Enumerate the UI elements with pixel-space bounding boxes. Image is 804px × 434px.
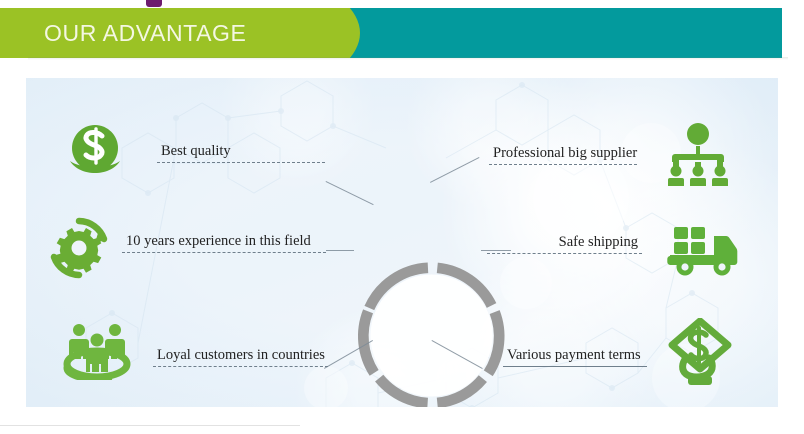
advantage-label-safe-shipping: Safe shipping	[487, 234, 642, 254]
label-rule	[503, 366, 647, 367]
delivery-truck-icon	[666, 222, 744, 280]
label-rule	[487, 253, 642, 254]
advantage-label-big-supplier: Professional big supplier	[489, 145, 641, 165]
label-rule	[122, 252, 326, 253]
quality-seal-icon	[66, 121, 124, 183]
gear-cycle-icon	[48, 217, 110, 279]
connector-line-2	[326, 250, 354, 251]
customers-group-icon	[62, 318, 132, 380]
advantage-label-best-quality: Best quality	[157, 143, 325, 163]
advantage-label-payment-terms: Various payment terms	[503, 347, 647, 367]
advantage-label-loyal-customers: Loyal customers in countries	[153, 347, 329, 367]
label-rule	[489, 164, 637, 165]
advantage-banner: OUR ADVANTAGE	[0, 0, 804, 434]
hand-money-icon	[668, 318, 732, 390]
top-clipped-artifact	[146, 0, 162, 7]
label-rule	[153, 366, 328, 367]
section-header: OUR ADVANTAGE	[0, 8, 804, 58]
label-rule	[157, 162, 325, 163]
segmented-ring	[354, 258, 509, 407]
page-title: OUR ADVANTAGE	[44, 8, 246, 58]
advantage-label-experience: 10 years experience in this field	[122, 233, 326, 253]
header-shadow	[28, 57, 788, 60]
org-chart-icon	[664, 121, 732, 187]
bottom-divider	[0, 425, 300, 426]
